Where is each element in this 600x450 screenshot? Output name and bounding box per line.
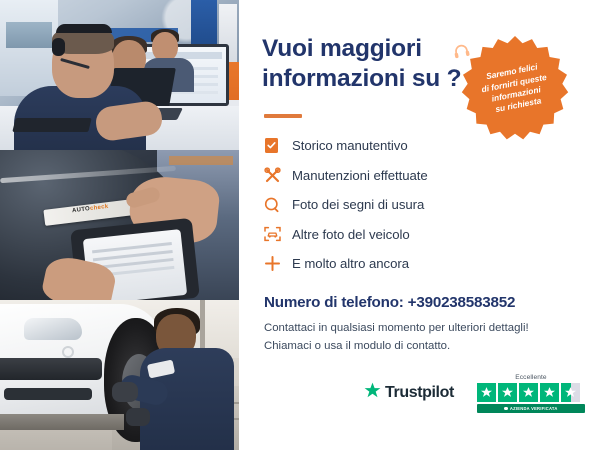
list-item: Foto dei segni di usura: [264, 190, 554, 220]
feature-list: Storico manutentivo Manutenzioni effettu…: [264, 131, 554, 279]
page-title-line-1: Vuoi maggiori: [262, 35, 422, 62]
phone-number-label[interactable]: Numero di telefono: +390238583852: [264, 294, 515, 311]
trustpilot-wordmark: Trustpilot: [385, 384, 454, 402]
title-underline-divider: [264, 114, 302, 118]
trustpilot-star-icon: [364, 382, 381, 404]
star-full: [540, 383, 559, 402]
vehicle-check-photo: AUTOcheck: [0, 150, 239, 300]
list-item-label: Manutenzioni effettuate: [292, 168, 428, 183]
trustpilot-widget[interactable]: Trustpilot Eccellente: [364, 374, 584, 416]
list-item: E molto altro ancora: [264, 249, 554, 279]
document-check-icon: [264, 137, 292, 154]
star-full: [519, 383, 538, 402]
trustpilot-logo: Trustpilot: [364, 382, 454, 404]
promo-banner: AUTOcheck: [0, 0, 600, 450]
call-center-photo: [0, 0, 239, 150]
contact-instructions: Contattaci in qualsiasi momento per ulte…: [264, 319, 584, 356]
verified-company-badge: AZIENDA VERIFICATA: [477, 404, 585, 413]
page-title: Vuoi maggiori informazioni su ?: [262, 34, 482, 94]
star-half: [561, 383, 580, 402]
list-item-label: Altre foto del veicolo: [292, 227, 410, 242]
verified-check-icon: [504, 407, 508, 411]
star-rating: [477, 383, 585, 402]
list-item-label: Foto dei segni di usura: [292, 197, 424, 212]
car-scan-icon: [264, 226, 292, 242]
rating-label: Eccellente: [477, 374, 585, 381]
list-item: Manutenzioni effettuate: [264, 161, 554, 191]
tools-cross-icon: [264, 167, 292, 184]
plus-icon: [264, 255, 292, 272]
list-item: Storico manutentivo: [264, 131, 554, 161]
callout-badge: Saremo felici di fornirti queste informa…: [461, 34, 569, 142]
star-full: [477, 383, 496, 402]
verified-label: AZIENDA VERIFICATA: [510, 406, 558, 411]
contact-instructions-line-1: Contattaci in qualsiasi momento per ulte…: [264, 322, 529, 334]
photo-column: AUTOcheck: [0, 0, 239, 450]
list-item-label: Storico manutentivo: [292, 138, 408, 153]
list-item: Altre foto del veicolo: [264, 220, 554, 250]
page-title-line-2: informazioni su ?: [262, 65, 461, 92]
contact-instructions-line-2: Chiamaci o usa il modulo di contatto.: [264, 340, 450, 352]
search-bubble-icon: [264, 197, 292, 213]
trustpilot-rating: Eccellente: [477, 374, 585, 413]
list-item-label: E molto altro ancora: [292, 256, 409, 271]
content-panel: Vuoi maggiori informazioni su ? Saremo f…: [239, 0, 600, 450]
star-full: [498, 383, 517, 402]
garage-photo: [0, 300, 239, 450]
